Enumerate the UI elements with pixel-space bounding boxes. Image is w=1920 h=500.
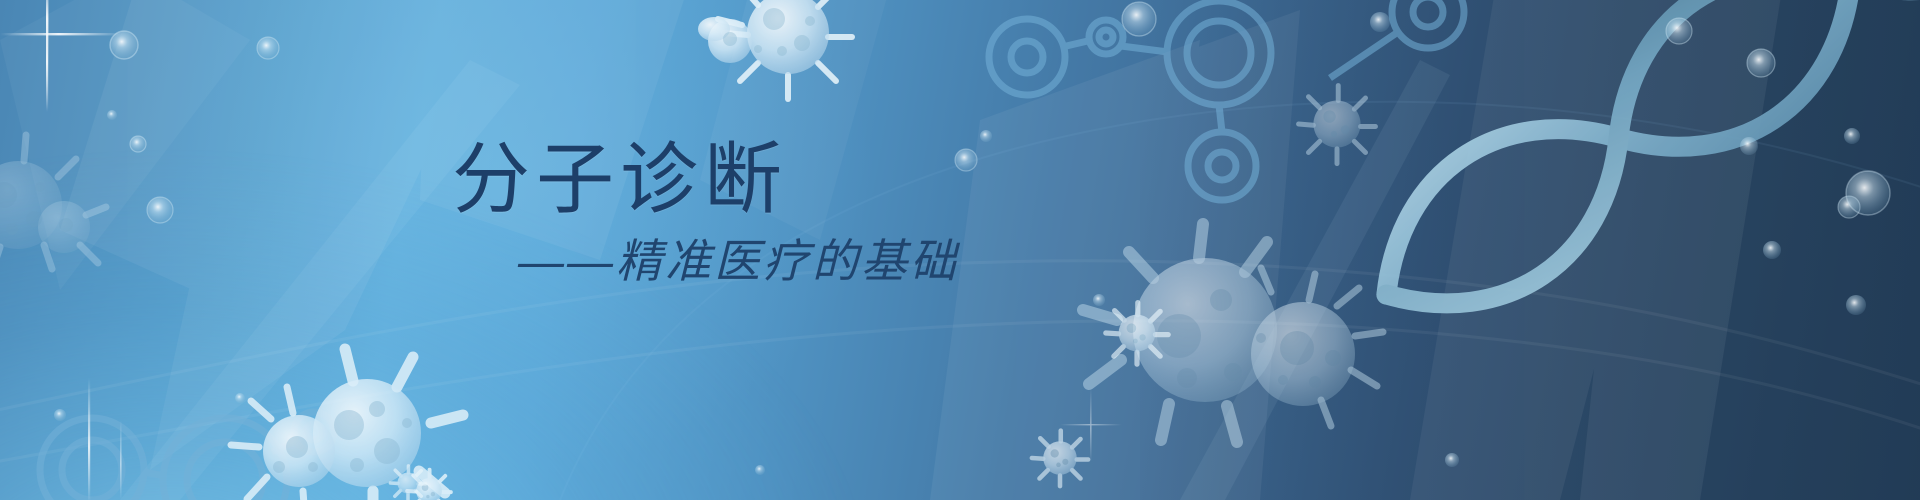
sparkle: [120, 420, 122, 500]
sparkle: [0, 0, 122, 112]
sparkle: [1060, 388, 1122, 462]
sparkle: [88, 378, 90, 500]
hero-banner: 分子诊断 ——精准医疗的基础: [0, 0, 1920, 500]
sparkle-layer: [0, 0, 1920, 500]
